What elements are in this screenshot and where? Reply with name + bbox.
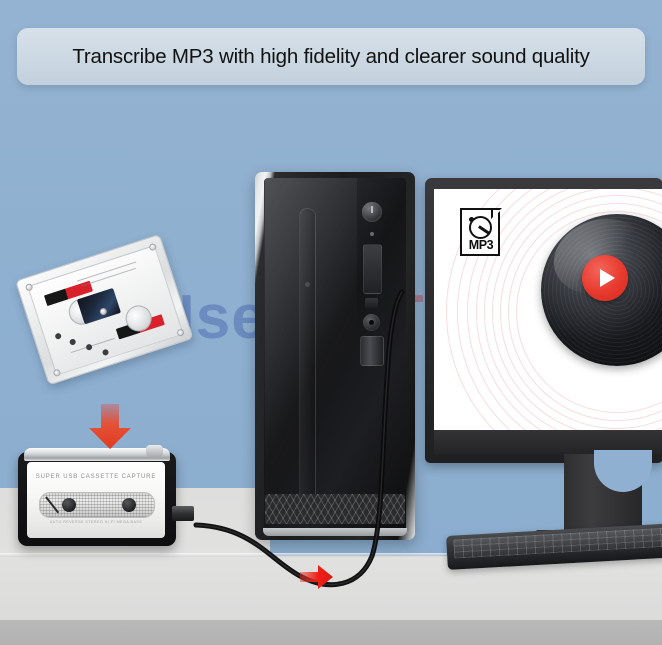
card-reader-slot — [365, 298, 378, 308]
tower-front-groove — [299, 208, 316, 510]
mp3-file-icon[interactable]: MP3 — [460, 208, 502, 260]
capture-device-tape-window — [39, 492, 155, 518]
tape-reel-left — [62, 498, 76, 512]
capture-device-subtitle: AUTO REVERSE STEREO HI-FI MEGA BASS — [27, 520, 165, 524]
drive-bay-slot — [363, 244, 382, 294]
mesh-vent — [265, 494, 405, 524]
power-icon — [371, 206, 373, 213]
usb-connector — [172, 506, 194, 521]
status-led — [370, 232, 374, 236]
play-triangle-icon — [600, 269, 615, 287]
red-right-arrow — [300, 564, 334, 590]
floor-band — [0, 620, 662, 645]
monitor-screen: MP3 — [434, 189, 662, 430]
capture-device-title: SUPER USB CASSETTE CAPTURE — [27, 474, 165, 480]
tower-chassis — [255, 172, 415, 540]
tape-reel-right — [122, 498, 136, 512]
file-fold-inner — [493, 210, 501, 218]
capture-device-knob[interactable] — [146, 445, 163, 457]
product-marketing-image: NsendATO — [0, 0, 662, 645]
tower-base-foot — [263, 528, 407, 536]
disc-center-dot — [469, 217, 474, 222]
usb-cassette-capture-device: SUPER USB CASSETTE CAPTURE AUTO REVERSE … — [18, 448, 178, 548]
tower-groove-dot — [305, 282, 310, 287]
headline-text: Transcribe MP3 with high fidelity and cl… — [72, 45, 589, 69]
computer-monitor: MP3 — [425, 178, 662, 478]
audio-jack-hole — [369, 320, 374, 325]
red-down-arrow — [88, 404, 132, 450]
usb-port-connected[interactable] — [360, 336, 384, 366]
mp3-file-label: MP3 — [461, 238, 501, 252]
play-button[interactable] — [582, 255, 628, 301]
monitor-bezel: MP3 — [425, 178, 662, 463]
headline-banner: Transcribe MP3 with high fidelity and cl… — [17, 28, 645, 85]
desktop-pc-tower — [255, 172, 415, 540]
